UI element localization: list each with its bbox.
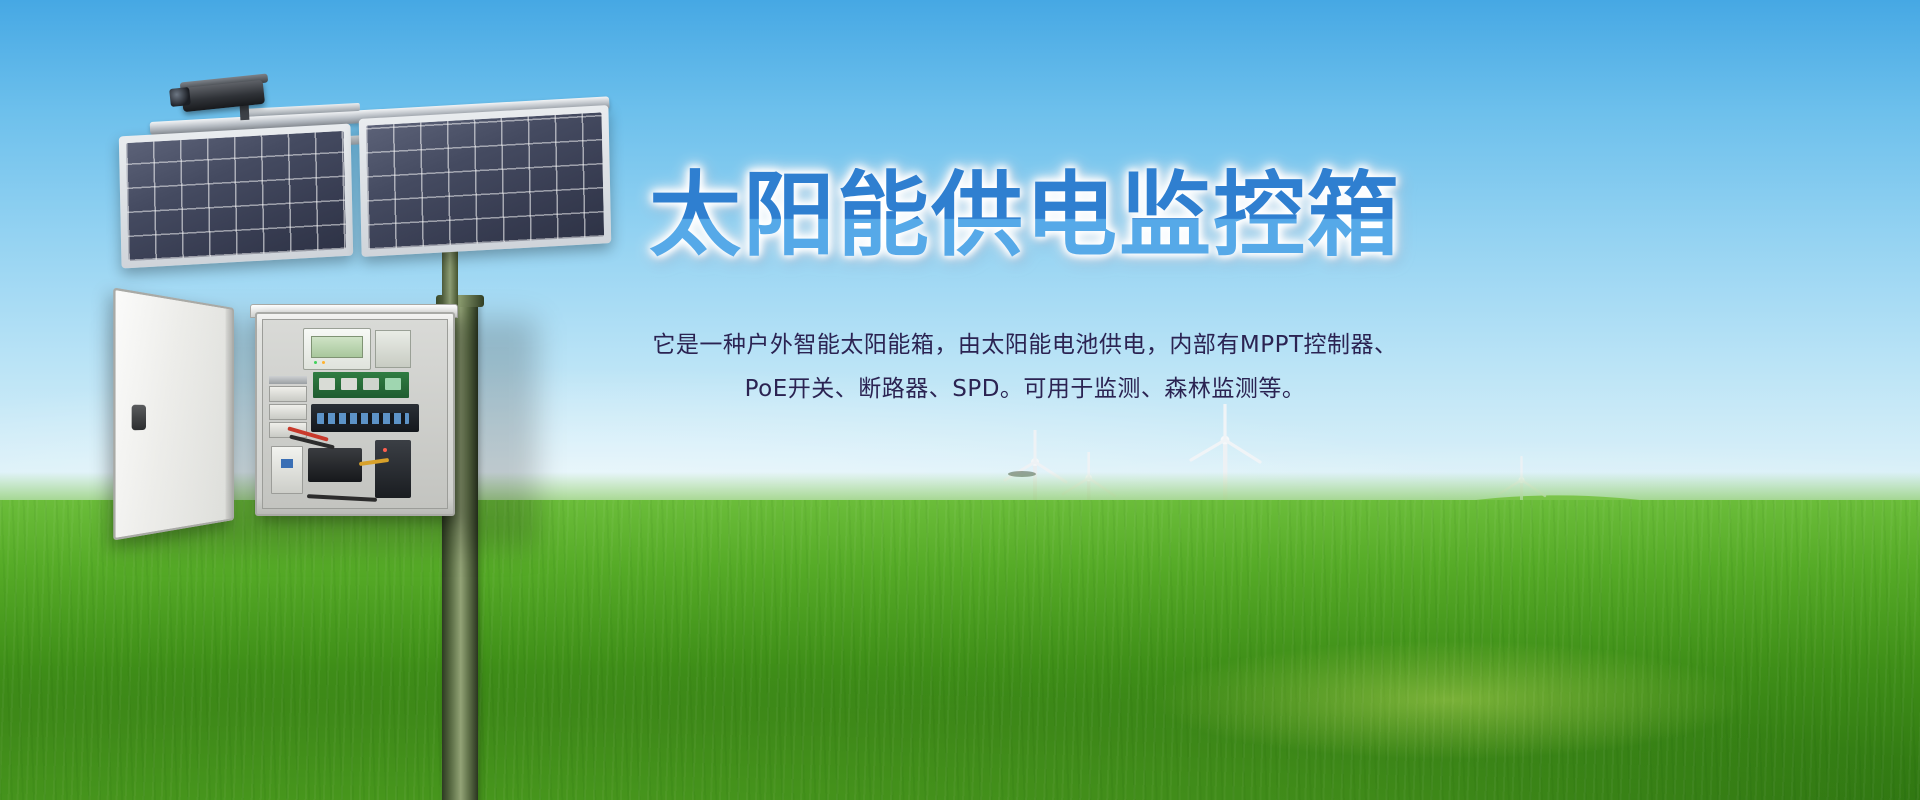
- terminal-strip-1: [269, 386, 307, 402]
- controller-led-amber: [322, 361, 325, 364]
- terminal-block-top: [375, 330, 411, 368]
- solar-panel-right: [359, 105, 612, 257]
- pcb-chip-4: [385, 378, 401, 390]
- control-cabinet: [255, 312, 455, 516]
- page-title: 太阳能供电监控箱: [640, 168, 1410, 265]
- solar-pole-assembly: [90, 50, 710, 700]
- banner-description: 它是一种户外智能太阳能箱，由太阳能电池供电，内部有MPPT控制器、 PoE开关、…: [640, 323, 1410, 413]
- spd-module: [375, 440, 411, 498]
- battery: [308, 448, 362, 482]
- solar-cells-left: [126, 131, 346, 261]
- pcb-chip-3: [363, 378, 379, 390]
- cabinet-lock-icon[interactable]: [132, 405, 146, 431]
- grass-sun-highlight: [1150, 640, 1750, 760]
- solar-panel-left: [119, 123, 353, 268]
- banner-copy: 太阳能供电监控箱 它是一种户外智能太阳能箱，由太阳能电池供电，内部有MPPT控制…: [640, 168, 1410, 412]
- mppt-controller: [303, 328, 371, 370]
- cabinet-interior: [262, 319, 448, 509]
- pcb-chip-2: [341, 378, 357, 390]
- cabinet-door[interactable]: [113, 287, 234, 540]
- solar-cells-right: [366, 112, 604, 249]
- description-line-2: PoE开关、断路器、SPD。可用于监测、森林监测等。: [640, 367, 1410, 412]
- camera-mount: [240, 104, 250, 120]
- controller-display: [311, 336, 363, 358]
- circuit-breaker: [271, 446, 303, 494]
- wire-black-2: [307, 494, 377, 502]
- poe-switch: [311, 404, 419, 432]
- poe-switch-ports: [317, 413, 409, 424]
- solar-monitoring-cabinet-banner: 太阳能供电监控箱 它是一种户外智能太阳能箱，由太阳能电池供电，内部有MPPT控制…: [0, 0, 1920, 800]
- controller-led-green: [314, 361, 317, 364]
- door-edge: [226, 309, 233, 520]
- pcb-board: [313, 372, 409, 398]
- pcb-chip-1: [319, 378, 335, 390]
- din-rail-left: [269, 376, 307, 384]
- breaker-toggle: [281, 459, 293, 468]
- terminal-strip-2: [269, 404, 307, 420]
- spd-led: [383, 448, 387, 452]
- description-line-1: 它是一种户外智能太阳能箱，由太阳能电池供电，内部有MPPT控制器、: [640, 323, 1410, 368]
- camera-lens-icon: [169, 87, 191, 107]
